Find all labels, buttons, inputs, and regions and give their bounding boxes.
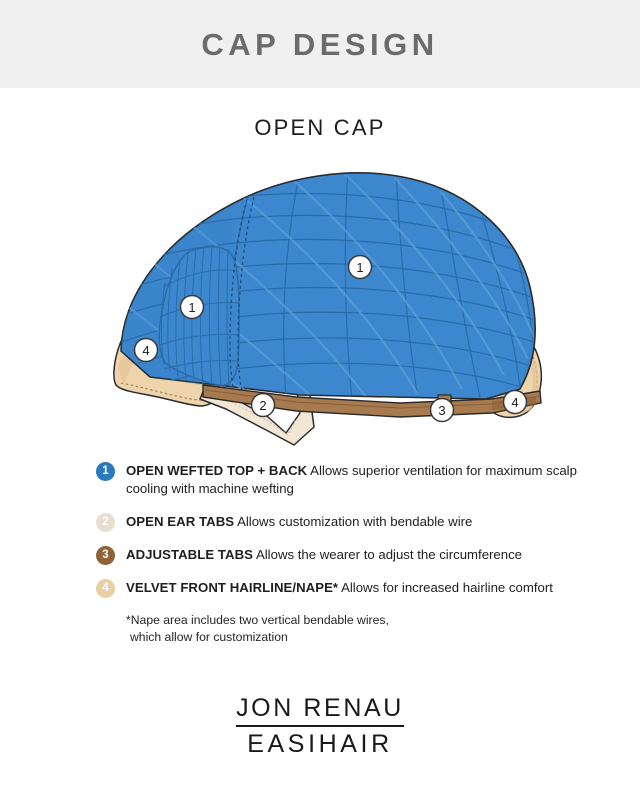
callout-3-label: 3	[438, 403, 445, 418]
callout-4-front-hairline: 4	[135, 339, 158, 362]
footnote-line-1: *Nape area includes two vertical bendabl…	[126, 612, 594, 629]
callout-1-top-label: 1	[356, 260, 363, 275]
open-cap-drawing: 1 1 2 3 4 4	[0, 147, 640, 447]
page-title: CAP DESIGN	[201, 29, 438, 60]
legend-badge-4: 4	[96, 579, 115, 598]
page-header: CAP DESIGN	[0, 0, 640, 88]
callout-4-front-label: 4	[142, 343, 149, 358]
legend-item-2: 2 OPEN EAR TABS Allows customization wit…	[96, 512, 594, 532]
legend-label-4: VELVET FRONT HAIRLINE/NAPE*	[126, 580, 338, 595]
legend-badge-3: 3	[96, 546, 115, 565]
callout-1-top: 1	[349, 256, 372, 279]
legend-text-1: OPEN WEFTED TOP + BACK Allows superior v…	[126, 461, 594, 498]
legend-label-2: OPEN EAR TABS	[126, 514, 234, 529]
brand-name-secondary: EASIHAIR	[0, 730, 640, 758]
legend-footnote: *Nape area includes two vertical bendabl…	[96, 612, 594, 647]
brand-footer: JON RENAU EASIHAIR	[0, 694, 640, 758]
legend-desc-3: Allows the wearer to adjust the circumfe…	[256, 547, 522, 562]
brand-divider	[236, 725, 404, 727]
callout-4-nape-label: 4	[511, 395, 518, 410]
legend-text-2: OPEN EAR TABS Allows customization with …	[126, 512, 472, 531]
open-wefted-cap-dome	[119, 167, 542, 407]
callout-3-adjustable-tab: 3	[431, 399, 454, 422]
legend-item-3: 3 ADJUSTABLE TABS Allows the wearer to a…	[96, 545, 594, 565]
legend-item-1: 1 OPEN WEFTED TOP + BACK Allows superior…	[96, 461, 594, 498]
footnote-line-2: which allow for customization	[126, 629, 594, 646]
legend-label-3: ADJUSTABLE TABS	[126, 547, 253, 562]
legend-item-4: 4 VELVET FRONT HAIRLINE/NAPE* Allows for…	[96, 578, 594, 598]
callout-1-back: 1	[181, 296, 204, 319]
legend-label-1: OPEN WEFTED TOP + BACK	[126, 463, 307, 478]
cap-type-subtitle: OPEN CAP	[254, 115, 385, 140]
legend-text-4: VELVET FRONT HAIRLINE/NAPE* Allows for i…	[126, 578, 553, 597]
legend-desc-2: Allows customization with bendable wire	[237, 514, 472, 529]
callout-4-nape: 4	[504, 391, 527, 414]
legend-text-3: ADJUSTABLE TABS Allows the wearer to adj…	[126, 545, 522, 564]
callout-1-back-label: 1	[188, 300, 195, 315]
subtitle-container: OPEN CAP	[0, 115, 640, 141]
legend-list: 1 OPEN WEFTED TOP + BACK Allows superior…	[0, 461, 640, 647]
callout-2-ear-tab: 2	[252, 394, 275, 417]
callout-2-label: 2	[259, 398, 266, 413]
brand-name-primary: JON RENAU	[0, 694, 640, 722]
legend-badge-1: 1	[96, 462, 115, 481]
cap-illustration: 1 1 2 3 4 4	[0, 147, 640, 447]
legend-desc-4: Allows for increased hairline comfort	[341, 580, 553, 595]
legend-badge-2: 2	[96, 513, 115, 532]
